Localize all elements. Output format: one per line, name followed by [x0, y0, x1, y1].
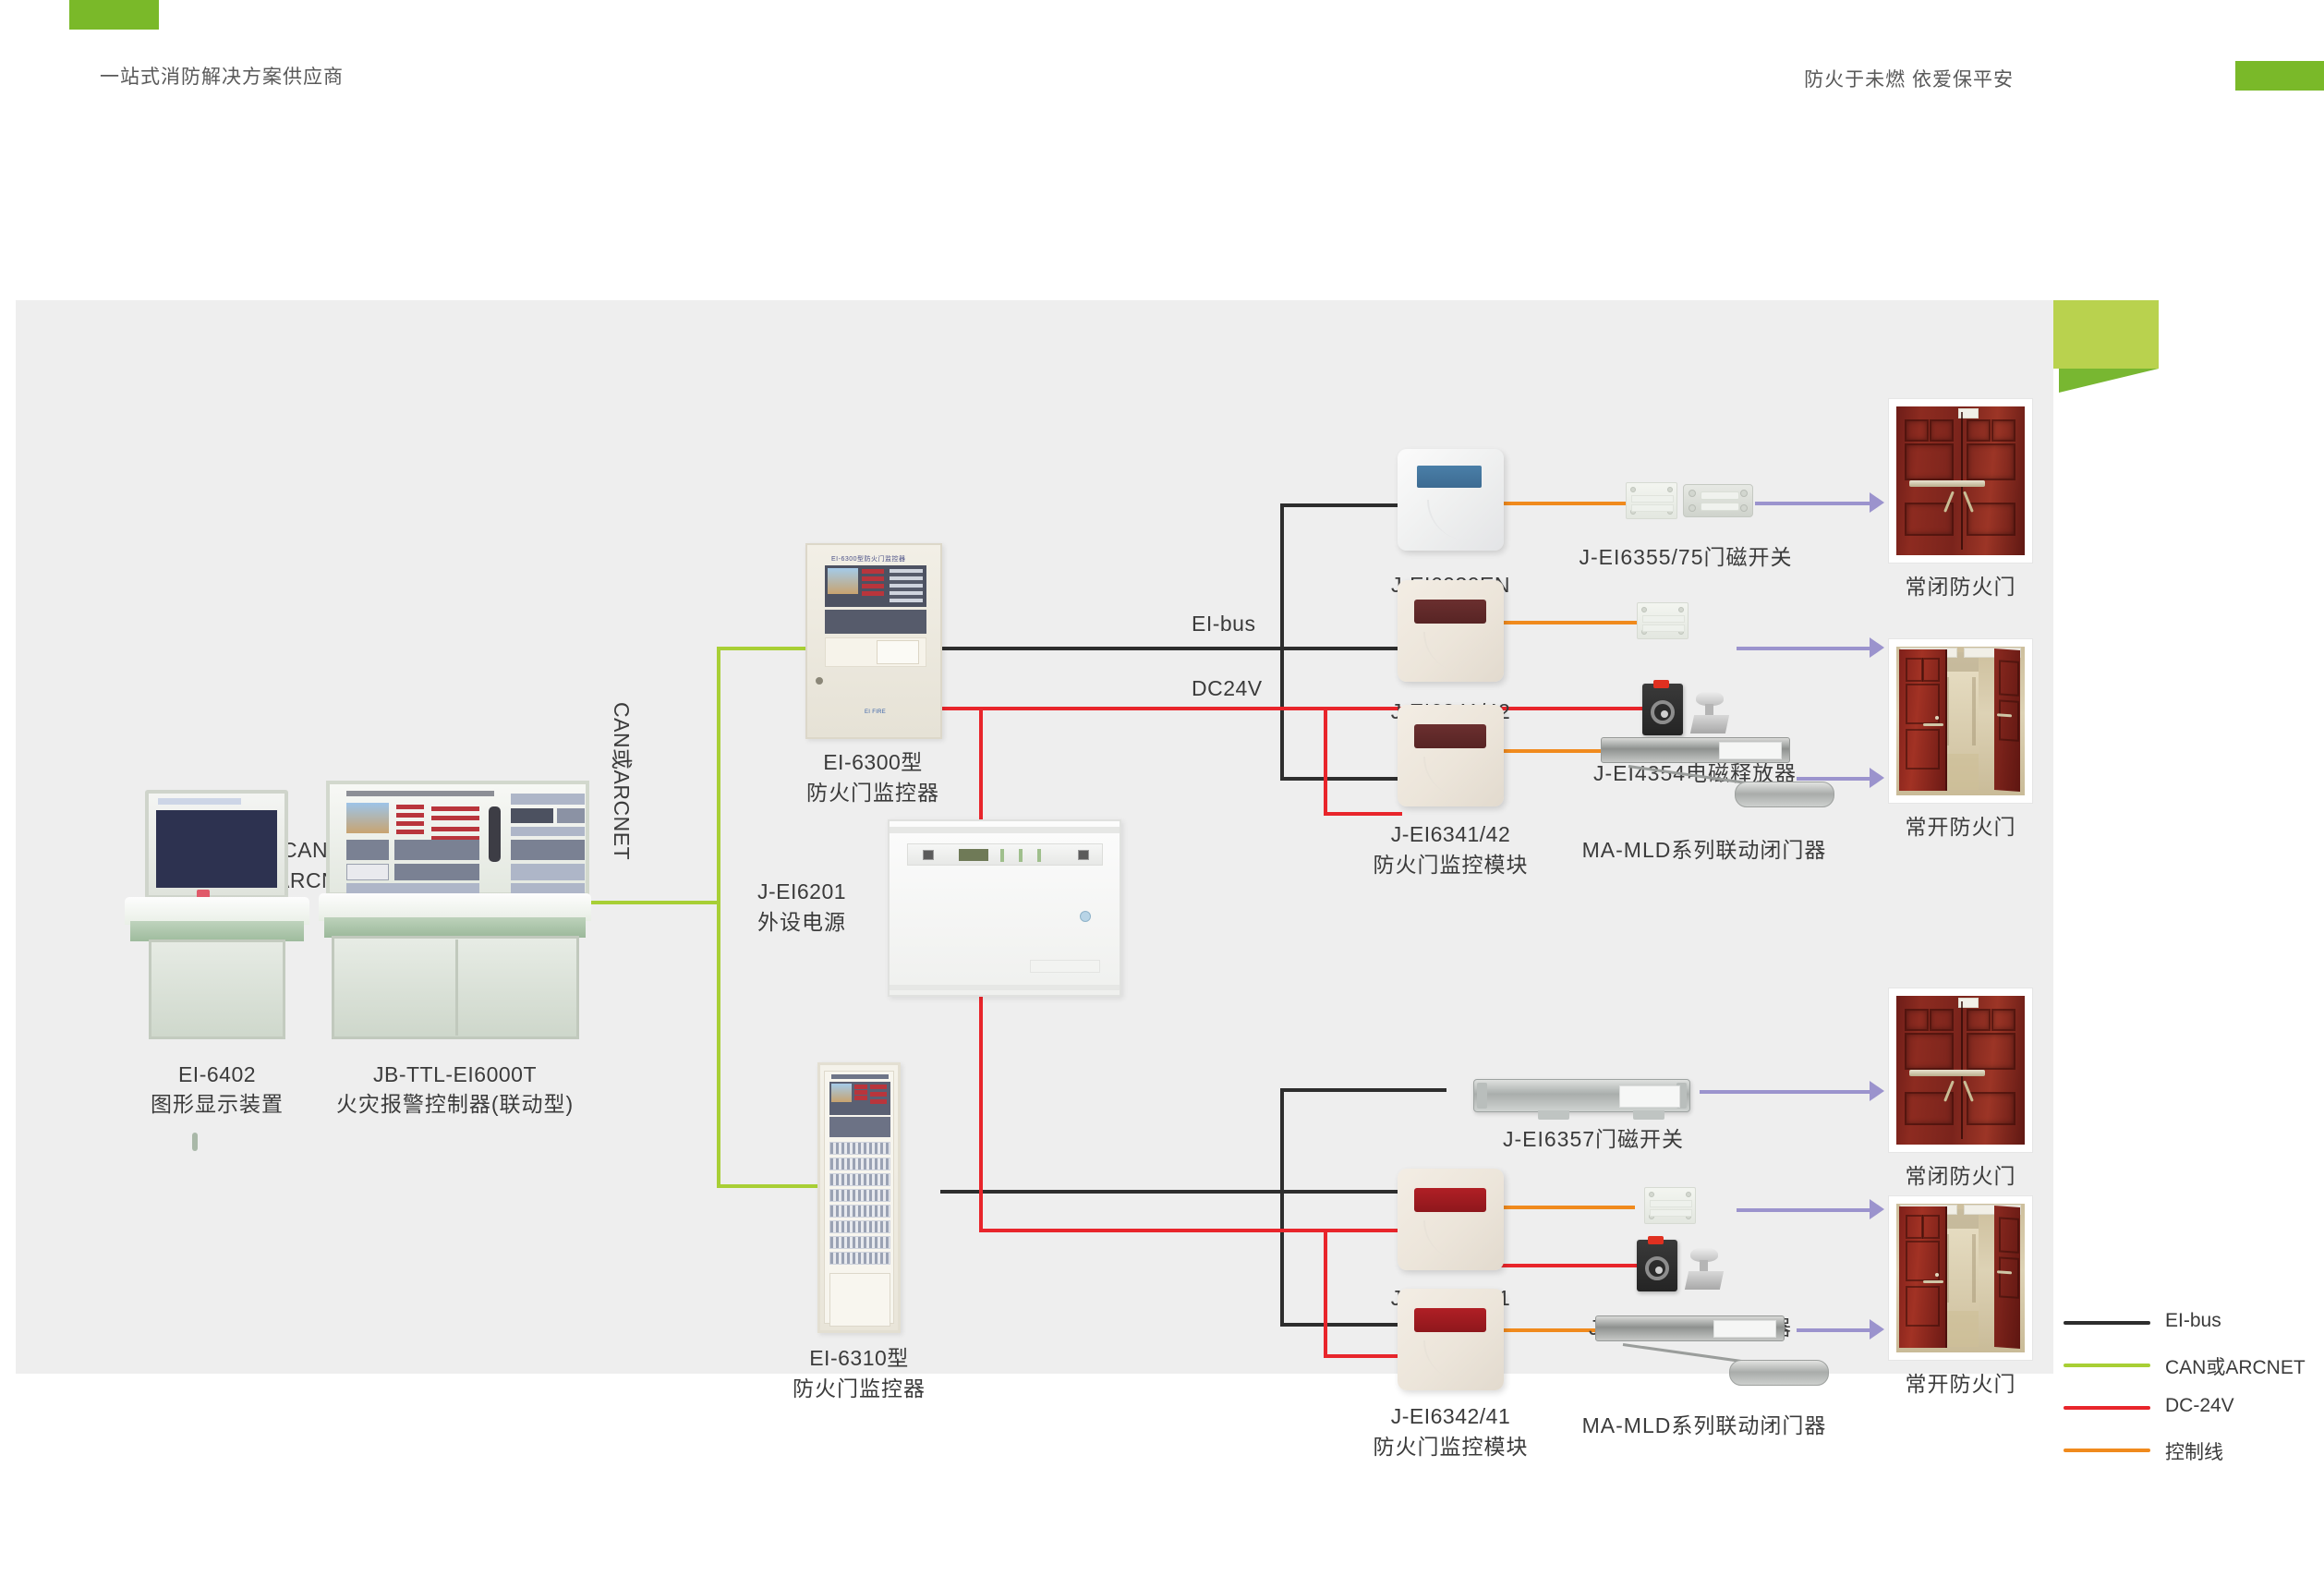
ei6201-main-switch[interactable] [923, 850, 934, 860]
wire-can-arcnet-to-ei6310 [717, 1184, 820, 1188]
legend: EI-bus CAN或ARCNET DC-24V 控制线 [2064, 1303, 2313, 1473]
ei6310-keypad[interactable] [829, 1117, 890, 1137]
label-door-open-bottom: 常开防火门 [1880, 1370, 2041, 1399]
wire-dc24v-to-6342b [1324, 1354, 1402, 1358]
wire-control-6030-to-6355 [1501, 502, 1628, 505]
legend-row-dc24v: DC-24V [2064, 1388, 2313, 1430]
arrow-door-open-bottom-a [1870, 1199, 1884, 1219]
ei6300-module-slot [877, 640, 919, 664]
wire-eibus-bottom-to-6342b [1280, 1323, 1400, 1327]
device-jei6341-42-module-top[interactable] [1398, 580, 1504, 682]
wire-dc24v-bottom-branch [1324, 1229, 1327, 1358]
jei6341b-contour [1423, 757, 1479, 797]
label-can-arcnet-vertical: CAN或ARCNET [607, 702, 635, 860]
device-jei6342-41-module-top[interactable] [1398, 1169, 1504, 1270]
wire-control-6341a-to-contact [1501, 621, 1640, 624]
ei6310-base-panel [829, 1273, 890, 1327]
legend-row-ei-bus: EI-bus [2064, 1303, 2313, 1345]
arrow-door-open-top-a [1870, 637, 1884, 658]
ei6310-faceplate-title [831, 1074, 889, 1079]
wire-dc24v-bottom-main [979, 1229, 1402, 1232]
ei6310-inner-frame [824, 1071, 894, 1324]
label-ei6000t-model: JB-TTL-EI6000T [309, 1061, 600, 1089]
legend-label-ei-bus: EI-bus [2165, 1310, 2221, 1332]
label-jei6341-42-bottom-model: J-EI6341/42 [1374, 820, 1527, 849]
legend-swatch-control-line [2064, 1449, 2150, 1452]
ei6201-indicator-strip [907, 843, 1103, 866]
label-jei6357: J-EI6357门磁开关 [1478, 1125, 1709, 1154]
label-ei6000t-name: 火灾报警控制器(联动型) [309, 1090, 600, 1119]
wire-signal-to-door-open-top-a [1737, 647, 1875, 650]
ei6402-brand-strip [158, 798, 241, 805]
label-ei6300-model: EI-6300型 [781, 748, 965, 777]
label-jei6355-75: J-EI6355/75门磁开关 [1570, 543, 1801, 572]
label-ei6310-name: 防火门监控器 [767, 1375, 951, 1403]
label-door-closed-bottom: 常闭防火门 [1880, 1162, 2041, 1191]
ei6300-brand-logo: EI FIRE [865, 709, 920, 721]
label-door-open-top: 常开防火门 [1880, 813, 2041, 842]
wire-dc24v-to-release-bottom [1501, 1264, 1644, 1267]
wire-dc24v-psu-up [979, 707, 983, 823]
wire-signal-to-door-open-bottom-b [1797, 1328, 1875, 1332]
ei6201-top-trim [890, 827, 1120, 833]
wire-eibus-bottom-riser [1280, 1088, 1284, 1327]
ei6402-monitor [145, 790, 288, 899]
ei6402-skirt [130, 921, 304, 941]
arrow-door-open-top-b [1870, 768, 1884, 788]
device-ei6402-graphic-display[interactable] [125, 790, 309, 1039]
ei6000t-handset [489, 806, 501, 862]
legend-swatch-can-arcnet [2064, 1364, 2150, 1367]
legend-label-can-arcnet: CAN或ARCNET [2165, 1352, 2306, 1380]
label-ei6201-name: 外设电源 [757, 908, 878, 937]
wire-signal-to-door-closed-top [1755, 502, 1875, 505]
title-banner-fold [2059, 369, 2159, 393]
ei6300-lock-icon [816, 677, 823, 685]
label-ei6300-name: 防火门监控器 [781, 779, 965, 807]
ei6300-keypad[interactable] [825, 610, 926, 634]
arrow-door-closed-bottom [1870, 1081, 1884, 1101]
jei6341a-label-plate [1414, 600, 1486, 624]
wire-dc24v-bottom-riser [979, 1190, 983, 1232]
device-ei6300-fire-door-monitor[interactable]: EI-6300型防火门监控器 EI FIRE [805, 543, 942, 739]
wire-eibus-top-to-6341a [1280, 647, 1400, 650]
ei6310-faceplate [829, 1082, 890, 1115]
wire-dc24v-top-branch [1324, 707, 1327, 816]
legend-row-control-line: 控制线 [2064, 1430, 2313, 1473]
header-slogan: 防火于未燃 依爱保平安 [1804, 65, 2014, 92]
legend-label-control-line: 控制线 [2165, 1437, 2223, 1465]
ei6000t-lcd [346, 803, 389, 833]
door-closed-top [1889, 399, 2032, 563]
wire-dc24v-psu-down [979, 993, 983, 1190]
wire-eibus-top-main [940, 647, 1282, 650]
legend-label-dc24v: DC-24V [2165, 1395, 2234, 1417]
ei6402-door-handle [192, 1133, 198, 1151]
label-dc24v-top: DC24V [1192, 674, 1263, 703]
door-open-top [1889, 639, 2032, 803]
jei6357-bracket-right [1633, 1110, 1664, 1120]
wire-eibus-top-to-6030 [1280, 503, 1400, 507]
header-tagline: 一站式消防解决方案供应商 [100, 65, 344, 91]
legend-row-can-arcnet: CAN或ARCNET [2064, 1345, 2313, 1388]
ei6030-contour [1427, 500, 1481, 540]
arrow-door-open-bottom-b [1870, 1319, 1884, 1339]
header-accent-bar-left [69, 0, 159, 30]
ei6300-faceplate [825, 565, 926, 607]
label-ei6402-model: EI-6402 [125, 1061, 309, 1089]
device-ei6310-fire-door-monitor[interactable] [817, 1062, 901, 1333]
label-ei-bus-top: EI-bus [1192, 610, 1255, 638]
ei6000t-skirt [324, 917, 586, 938]
wire-eibus-bottom-to-6342a [1280, 1190, 1400, 1194]
label-door-closed-top: 常闭防火门 [1880, 573, 2041, 601]
label-ei6201-model: J-EI6201 [757, 878, 878, 906]
label-mamld-bottom: MA-MLD系列联动闭门器 [1570, 1412, 1838, 1440]
wire-can-arcnet-to-ei6300 [717, 647, 809, 650]
label-jei6342-41-bottom-name: 防火门监控模块 [1365, 1433, 1536, 1461]
label-ei6310-model: EI-6310型 [767, 1344, 951, 1373]
wire-eibus-top-riser [1280, 503, 1284, 781]
jei6342a-label-plate [1414, 1188, 1486, 1212]
legend-swatch-ei-bus [2064, 1321, 2150, 1325]
ei6000t-faceplate-title [346, 791, 494, 796]
wire-control-6341b-to-closer [1501, 749, 1603, 753]
legend-swatch-dc24v [2064, 1406, 2150, 1410]
jei6341a-contour [1423, 632, 1479, 673]
door-open-bottom [1889, 1196, 2032, 1360]
header-accent-bar-right [2235, 61, 2324, 91]
ei6310-lcd [831, 1084, 852, 1102]
device-jb-ttl-ei6000t-fire-alarm-controller[interactable] [319, 781, 591, 1049]
wire-dc24v-to-6341b [1324, 812, 1402, 816]
arrow-door-closed-top [1870, 492, 1884, 513]
wire-signal-to-door-closed-bottom [1700, 1090, 1875, 1094]
wire-can-arcnet-vertical-trunk [717, 647, 720, 1188]
ei6300-faceplate-title: EI-6300型防火门监控器 [831, 554, 906, 564]
ei6300-lcd [828, 568, 858, 594]
ei6201-aux-switch[interactable] [1078, 850, 1089, 860]
door-closed-bottom [1889, 988, 2032, 1152]
label-mamld-top: MA-MLD系列联动闭门器 [1570, 836, 1838, 865]
device-jei6342-41-module-bottom[interactable] [1398, 1289, 1504, 1390]
jei6357-bracket-left [1538, 1110, 1569, 1120]
ei6402-screen [156, 810, 277, 888]
label-jei6342-41-bottom-model: J-EI6342/41 [1374, 1402, 1527, 1431]
jei6342a-contour [1423, 1220, 1479, 1261]
wire-eibus-bottom-to-6357 [1280, 1088, 1446, 1092]
ei6402-cabinet [149, 939, 285, 1039]
ei6000t-panel [326, 781, 589, 896]
wire-control-6342a-to-contact [1501, 1206, 1635, 1209]
peripheral-jei6357-magnetic-switch [1473, 1079, 1690, 1112]
ei6000t-cabinet-divider [455, 939, 458, 1036]
wire-eibus-bottom-main [940, 1190, 1282, 1194]
wire-eibus-top-to-6341b [1280, 777, 1400, 781]
ei6201-voltage-display [959, 849, 988, 861]
ei6201-lock-icon [1080, 911, 1091, 922]
ei6201-spec-label [1030, 960, 1100, 973]
jei6342b-contour [1423, 1340, 1479, 1381]
ei6201-bottom-trim [890, 985, 1120, 990]
device-jei6030en-input-module[interactable] [1398, 449, 1504, 551]
jei6341b-label-plate [1414, 724, 1486, 748]
label-jei6341-42-bottom-name: 防火门监控模块 [1365, 851, 1536, 879]
wire-signal-to-door-open-bottom-a [1737, 1208, 1875, 1212]
label-ei6402-name: 图形显示装置 [125, 1090, 309, 1119]
device-jei6341-42-module-bottom[interactable] [1398, 705, 1504, 806]
device-jei6201-peripheral-power-supply[interactable] [888, 819, 1121, 997]
jei6342b-label-plate [1414, 1308, 1486, 1332]
ei6030-label-plate [1417, 466, 1482, 488]
